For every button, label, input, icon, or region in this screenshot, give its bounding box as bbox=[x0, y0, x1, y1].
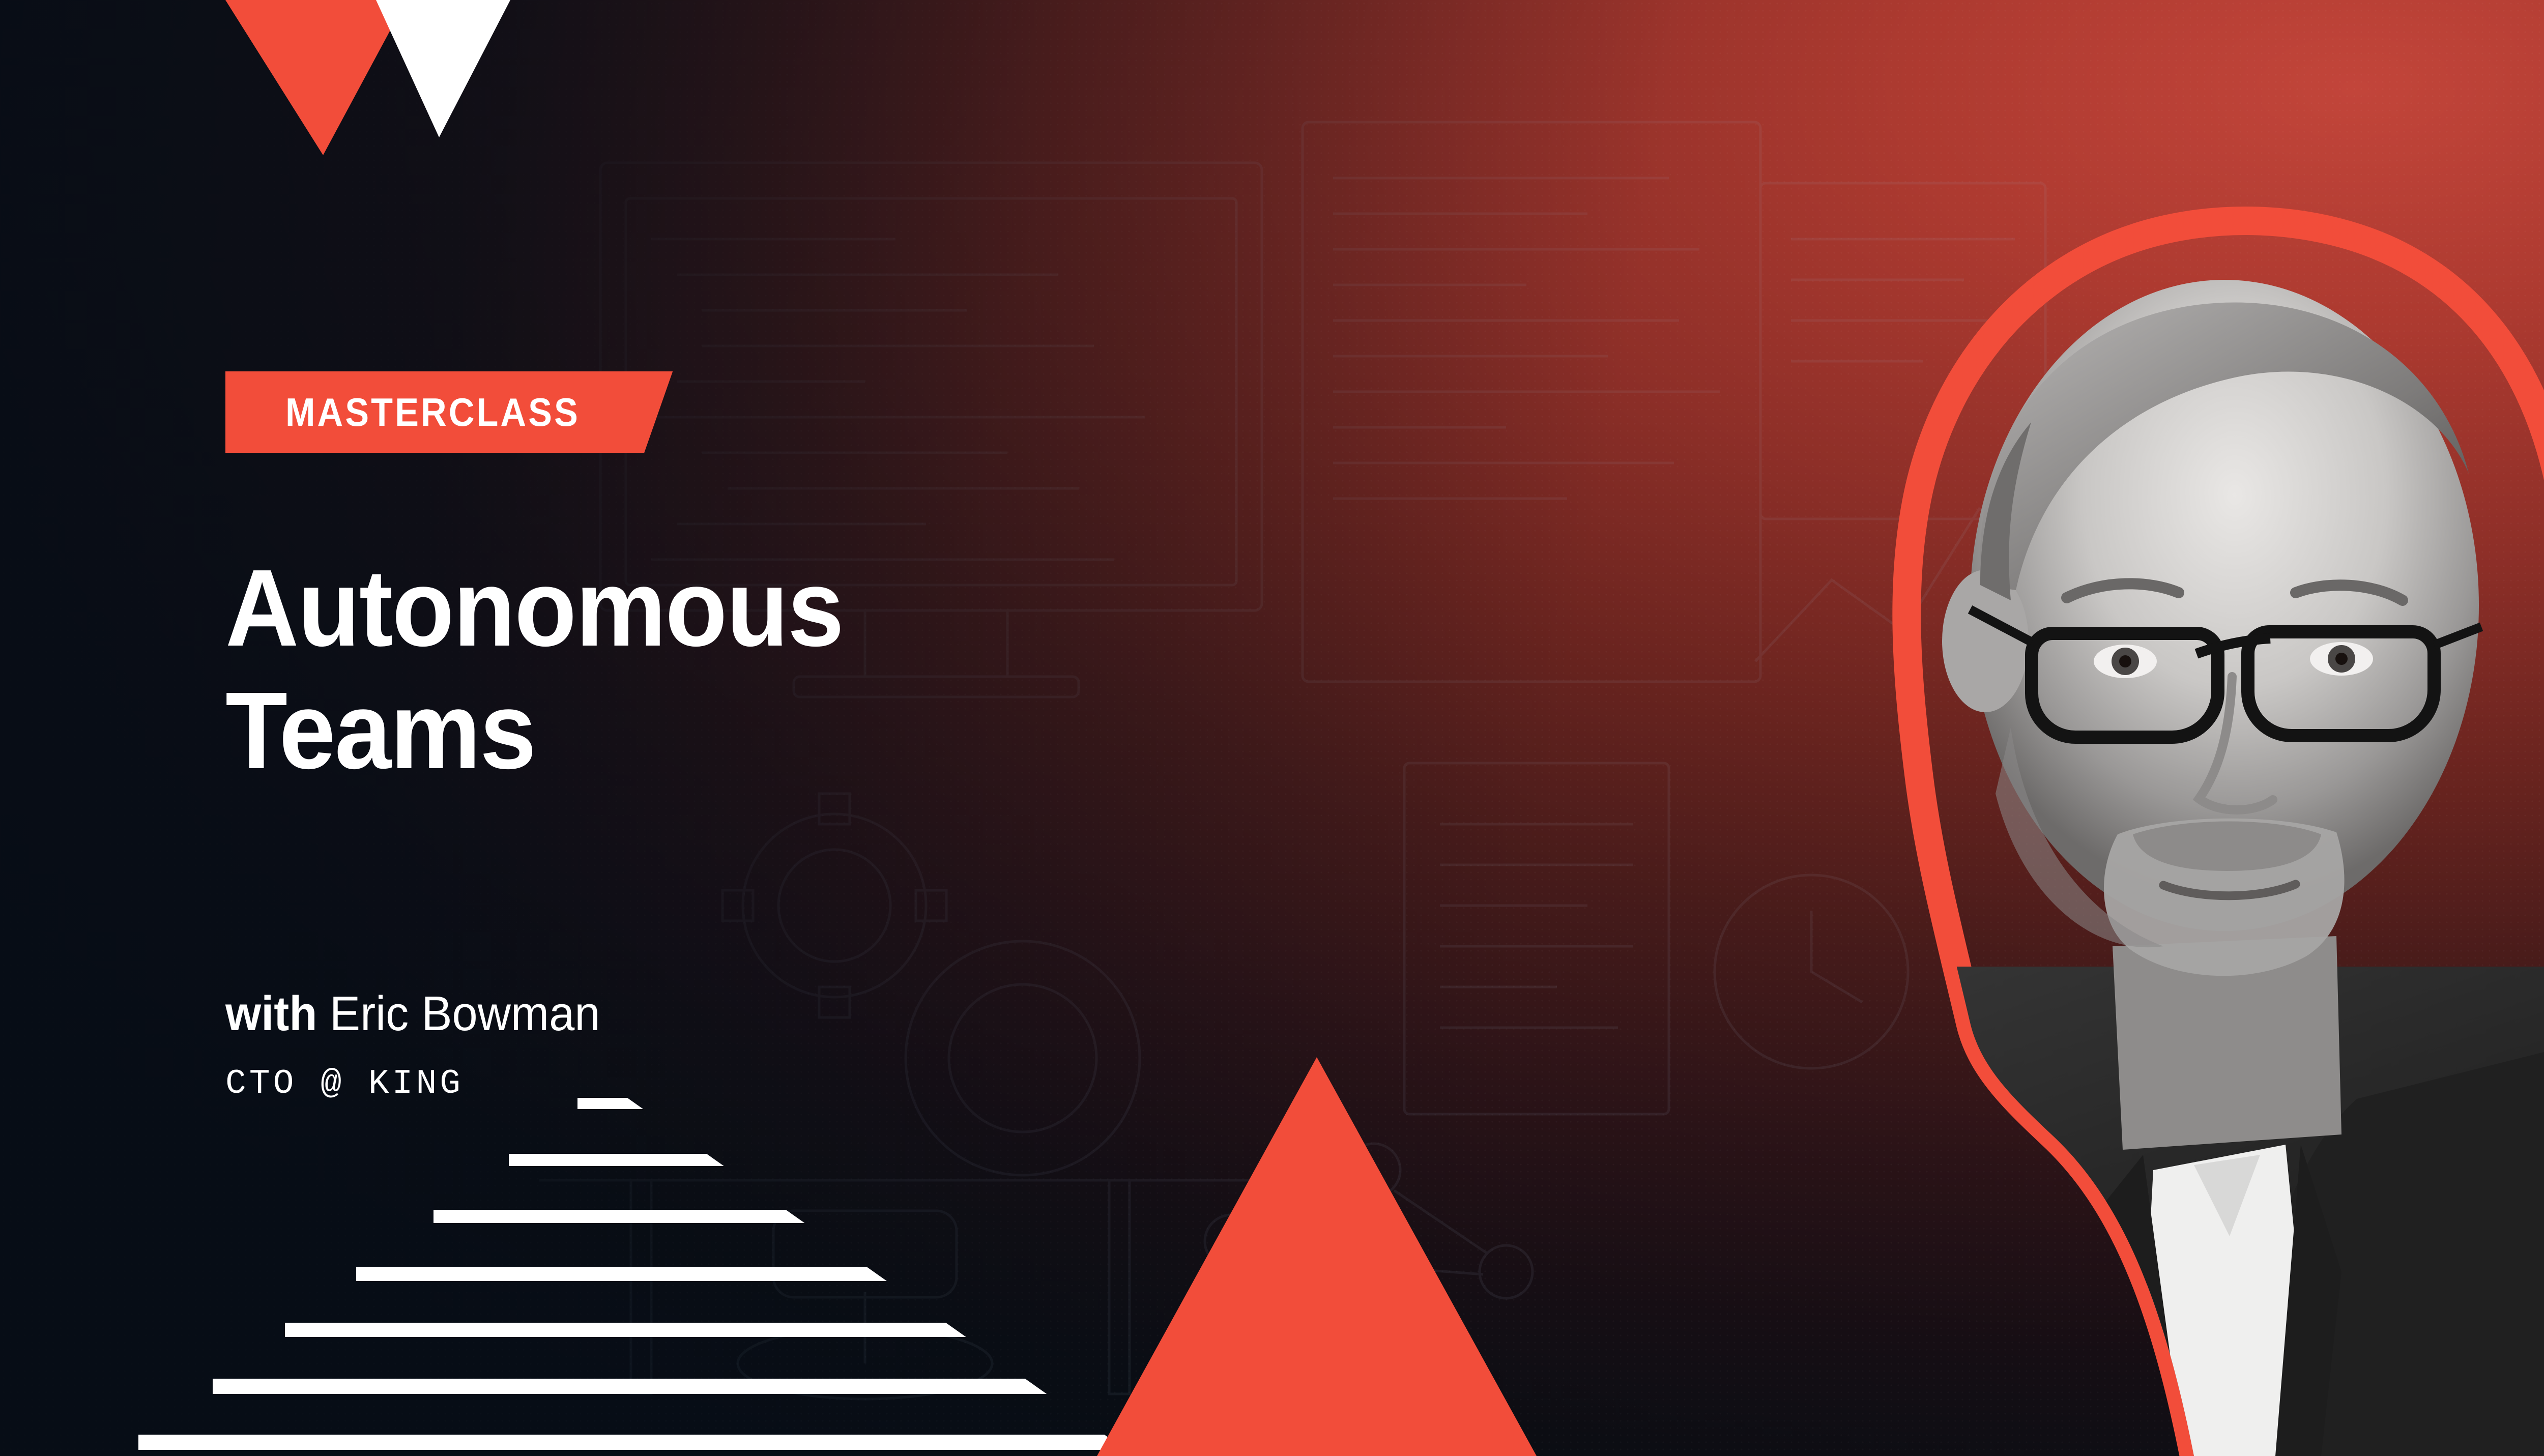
stripe bbox=[138, 1435, 1156, 1450]
speaker-name: Eric Bowman bbox=[330, 986, 600, 1041]
page-title: Autonomous Teams bbox=[225, 547, 1030, 792]
brand-chevron-logo bbox=[225, 0, 510, 155]
decorative-red-triangle bbox=[1079, 1057, 1537, 1456]
page-title-line-1: Autonomous bbox=[225, 547, 1030, 669]
logo-red-wedge bbox=[225, 0, 407, 155]
logo-white-wedge bbox=[376, 0, 510, 137]
page-title-line-2: Teams bbox=[225, 669, 1030, 792]
speaker-name-line: withEric Bowman bbox=[225, 989, 600, 1038]
portrait-image bbox=[1594, 280, 2544, 1456]
stripe bbox=[213, 1379, 1179, 1394]
speaker-portrait bbox=[1594, 0, 2544, 1456]
masterclass-badge: MASTERCLASS bbox=[225, 371, 673, 453]
stripe bbox=[285, 1323, 1201, 1337]
masterclass-badge-label: MASTERCLASS bbox=[285, 392, 580, 432]
speaker-with-label: with bbox=[225, 986, 317, 1041]
masterclass-poster: MASTERCLASS Autonomous Teams withEric Bo… bbox=[0, 0, 2544, 1456]
